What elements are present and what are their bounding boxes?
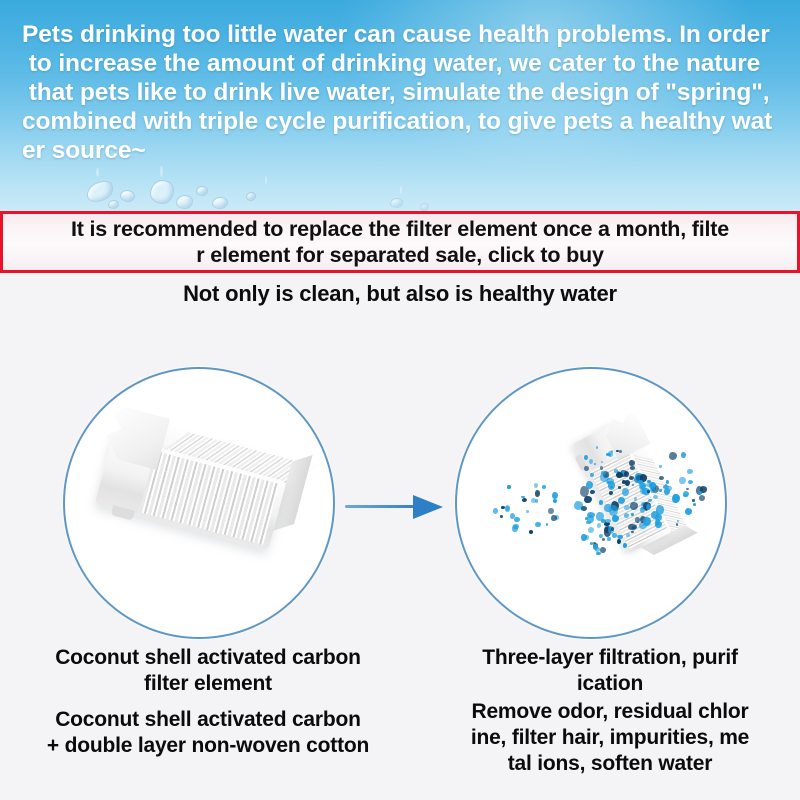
caption-left-secondary: Coconut shell activated carbon + double … [8,707,408,759]
water-particle [552,492,558,499]
filter-photo-left [63,367,335,639]
water-particle [529,530,534,534]
water-droplet-icon [246,192,256,201]
water-droplet-icon [196,186,208,196]
product-infographic: Pets drinking too little water can cause… [0,0,800,800]
flow-arrow-icon [345,495,451,519]
water-particle [590,473,594,477]
water-streak [265,176,267,184]
water-streak [400,186,402,194]
water-particle [596,446,598,449]
filter-photo-right [455,367,727,639]
water-particle [505,506,510,512]
water-droplet-icon [119,188,136,203]
water-particle [679,477,685,484]
water-particle [617,539,621,544]
section-subheading: Not only is clean, but also is healthy w… [0,281,800,307]
water-particle [626,533,631,537]
water-particle [588,527,594,533]
water-particle [647,490,650,493]
water-particle [593,542,596,544]
water-particle [692,499,695,502]
water-splash-particles [457,369,725,637]
water-particle [535,522,541,528]
water-particle [589,459,593,464]
water-particle [693,503,696,505]
water-particle [584,466,589,471]
water-particle [596,512,603,521]
hero-paragraph: Pets drinking too little water can cause… [22,20,786,165]
water-droplet-icon [212,197,228,209]
caption-left-primary: Coconut shell activated carbon filter el… [8,645,408,697]
water-particle [624,513,629,518]
caption-right: Three-layer filtration, purif ication Re… [410,645,800,777]
water-droplet-icon [108,200,119,209]
water-particle [605,519,610,523]
water-particle [685,508,692,515]
water-particle [602,538,605,542]
water-particle [501,506,505,509]
filter-cartridge-icon [92,435,310,567]
water-streak [160,166,163,177]
caption-left: Coconut shell activated carbon filter el… [8,645,408,759]
water-particle [586,481,593,489]
water-particle [619,450,622,453]
water-particle [587,512,595,518]
water-particle [681,452,686,458]
water-particle [535,490,541,497]
water-particle [659,465,662,468]
water-particle [699,495,705,501]
water-particle [585,535,589,539]
water-particle [600,466,603,470]
water-particle [546,523,548,526]
filter-replacement-callout[interactable]: It is recommended to replace the filter … [0,211,800,273]
water-particle [668,486,672,491]
water-particle [548,508,553,513]
water-particle [688,480,693,484]
water-particle [597,523,601,528]
water-particle [599,500,603,505]
water-particle [551,515,556,521]
water-particle [677,520,679,522]
water-particle [601,461,603,463]
water-particle [686,488,689,490]
water-particle [584,496,591,503]
water-particle [542,485,546,489]
water-particle [601,471,605,475]
water-particle [629,460,635,466]
water-droplet-icon [420,203,429,211]
water-particle [632,484,634,486]
water-particle [522,498,527,502]
water-particle [625,480,630,486]
water-particle [596,552,600,555]
water-particle [607,537,611,542]
water-particle [584,455,588,460]
water-particle [639,482,646,489]
water-particle [630,466,635,469]
water-droplet-icon [390,198,403,208]
caption-right-primary: Three-layer filtration, purif ication [410,645,800,697]
water-particle [600,547,606,553]
water-particle [534,483,538,488]
hero-banner: Pets drinking too little water can cause… [0,0,800,212]
water-particle [553,499,557,503]
water-particle [594,463,596,465]
water-particle [513,524,518,529]
water-particle [669,452,677,460]
water-particle [687,469,693,474]
water-particle [629,476,634,480]
water-particle [683,494,688,498]
water-droplet-icon [150,180,174,204]
water-particle [631,513,634,516]
water-particle [676,523,678,526]
water-particle [526,510,529,512]
arrow-head [413,495,443,519]
caption-right-secondary: Remove odor, residual chlor ine, filter … [410,699,800,777]
water-streak [96,168,99,177]
water-particle [581,506,587,511]
arrow-shaft [345,505,421,508]
water-particle [590,490,595,494]
water-particle [618,486,620,489]
water-particle [500,515,503,518]
water-particle [612,515,619,522]
water-droplet-icon [176,195,193,209]
water-particle [623,543,627,548]
water-particle [586,521,590,525]
water-particle [659,476,665,480]
water-particle [614,469,618,472]
water-particle [666,480,669,484]
water-blob [623,521,643,533]
callout-text: It is recommended to replace the filter … [5,216,795,268]
water-particle [493,508,498,513]
water-particle [507,485,511,490]
